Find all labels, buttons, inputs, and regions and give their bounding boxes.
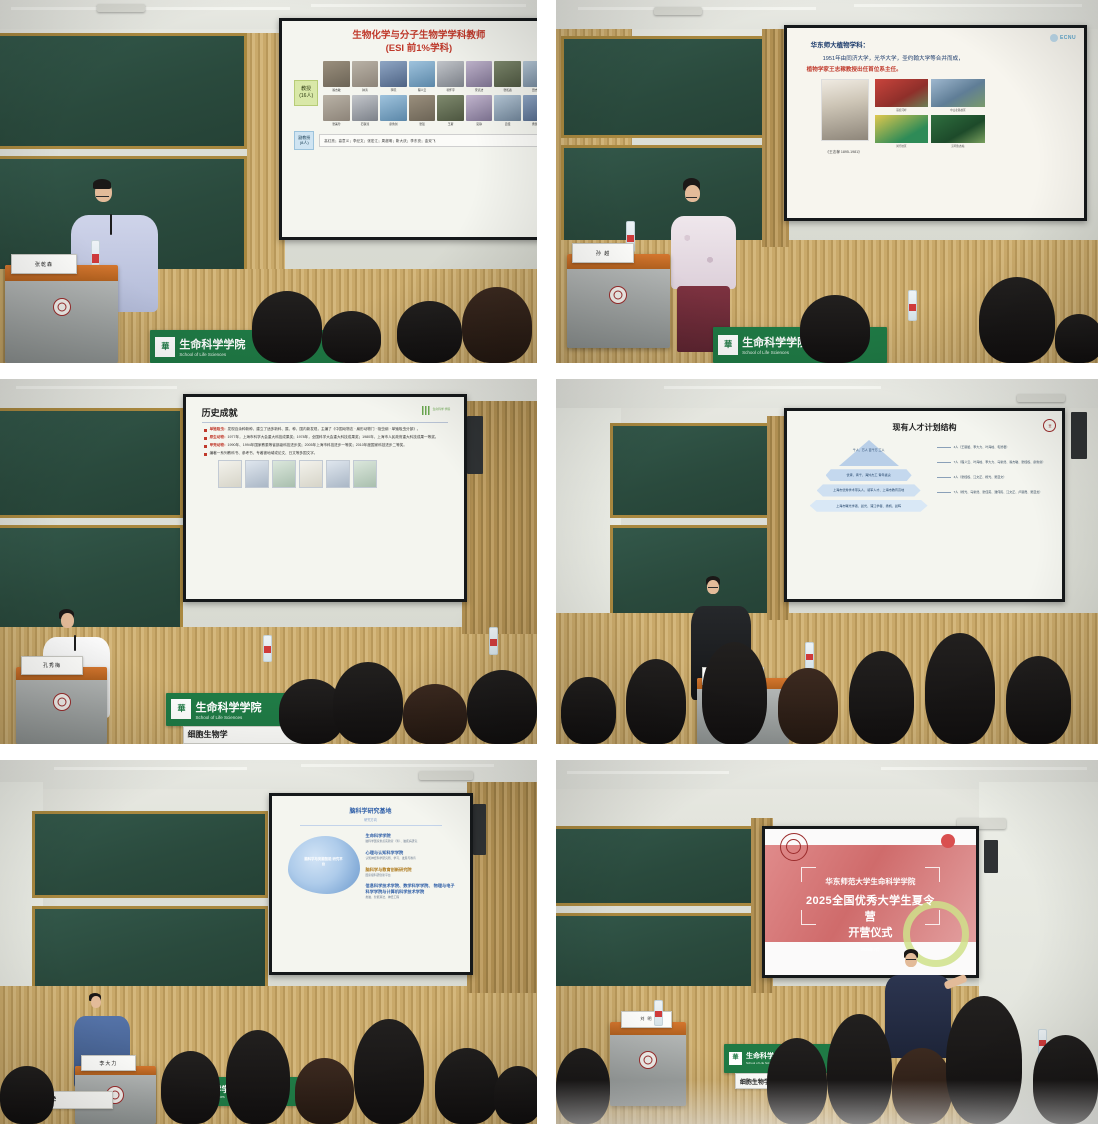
- ecnu-logo: ECNU: [1050, 34, 1076, 42]
- audience-member: [252, 291, 322, 363]
- book-cover: [245, 460, 269, 488]
- headshot: [437, 95, 464, 121]
- glasses-icon: [686, 197, 697, 201]
- audience-1: [0, 240, 537, 363]
- audience-head: [226, 1030, 290, 1124]
- audience-member: [354, 1019, 424, 1124]
- leader-line: [937, 447, 951, 448]
- list-item: 心理与认知科学学院 认知神经科学研究所、学习、发展与教育: [366, 850, 458, 861]
- audience-head: [467, 670, 537, 744]
- pyramid-note: 4人（张桂权、江文正、杨光、吴亚文）: [937, 475, 1046, 479]
- audience-head: [0, 1066, 54, 1124]
- item-detail: 脑科学国家重点实验室（筹）、脑疾病研究: [366, 840, 458, 844]
- headshot: [380, 95, 407, 121]
- school-logo-icon: [422, 406, 431, 415]
- projection-screen-5: 脑科学研究基地 研究方向 脑科学与类脑智能 研究平台 生命科学学院 脑科学国家重…: [269, 793, 473, 975]
- list-item: 编著一系列教科书、参考书、专著被地域或论文、日文等多国文字。: [204, 451, 449, 456]
- title-rule: [202, 422, 449, 423]
- audience-member: [467, 670, 537, 744]
- achievement-list: 单殖吸虫：发现百余种新种，建立了适多新科、属、种，国内新发现，主编了《中国动物志…: [204, 427, 449, 457]
- chalkboard-upper: [0, 33, 247, 149]
- headshot: [437, 61, 464, 87]
- tag-professor: 教授 (16人): [294, 80, 318, 106]
- school-logo: 生命科学 学院: [422, 406, 451, 415]
- slide-subtitle: 研究方向: [278, 817, 464, 822]
- ecnu-wordmark: ECNU: [1060, 35, 1076, 41]
- audience-head: [494, 1066, 537, 1124]
- projection-screen-3: 历史成就 生命科学 学院 单殖吸虫：发现百余种新种，建立了适多新科、属、种，国内…: [183, 394, 468, 602]
- book-cover: [218, 460, 242, 488]
- pyramid-note-text: 7人（程义云、叶海峰、李大力、马新然、翁杰敏、张桂权、廖鲁剑）: [954, 460, 1046, 464]
- audience-member: [849, 651, 914, 744]
- projection-screen-1: 生物化学与分子生物学学科教师 (ESI 前1%学科) 教授 (16人): [279, 18, 537, 239]
- audience-member: [403, 684, 467, 744]
- name-row-2: 张美玲 石铁流 廖鲁剑 张强 王斯 吴静 吕佳 曹慧文: [323, 121, 537, 126]
- audience-member: [561, 677, 615, 744]
- audience-head: [626, 659, 686, 744]
- audience-member: [322, 311, 381, 363]
- audience-2: [556, 240, 1098, 363]
- audience-head: [561, 677, 615, 744]
- headshot: [494, 61, 521, 87]
- ceiling-light-strip: [664, 386, 881, 389]
- slide-heading: 华东师大植物学科：: [811, 39, 1079, 49]
- headshot: [352, 61, 379, 87]
- photo-collage: 生物化学与分子生物学学科教师 (ESI 前1%学科) 教授 (16人): [0, 0, 1098, 1125]
- glasses-icon: [708, 587, 718, 591]
- historical-portrait: [821, 79, 869, 141]
- university-seal: [780, 833, 808, 861]
- projector: [97, 4, 145, 13]
- book-cover: [272, 460, 296, 488]
- slide-5: 脑科学研究基地 研究方向 脑科学与类脑智能 研究平台 生命科学学院 脑科学国家重…: [272, 796, 470, 972]
- photo-panel-2: ECNU 华东师大植物学科： 1951年由同济大学，光华大学，圣约翰大学等合并而…: [556, 0, 1098, 363]
- pyramid-note: 7人（杨光、马新然、张佳英、潘伟民、江文正、卢丽霞、吴亚龙）: [937, 490, 1046, 494]
- pyramid-note-text: 7人（杨光、马新然、张佳英、潘伟民、江文正、卢丽霞、吴亚龙）: [954, 490, 1043, 494]
- item-heading: 信息科学技术学院、数学科学学院、 物理与电子科学学院与计算机科学技术学院: [366, 883, 458, 895]
- projector: [654, 7, 703, 15]
- item-detail: 认知神经科学研究所、学习、发展与教育: [366, 857, 458, 861]
- thumb-caption: 闵行校区: [875, 144, 929, 148]
- faculty-body: 教授 (16人): [288, 61, 537, 126]
- book-cover: [299, 460, 323, 488]
- audience-member: [397, 301, 461, 363]
- audience-member: [161, 1051, 220, 1124]
- wall-speaker: [467, 416, 483, 474]
- audience-head: [322, 311, 381, 363]
- thumb-caption: 中山北路校区: [931, 108, 985, 112]
- audience-member: [462, 287, 532, 364]
- bullet-key: 原生动物：: [210, 435, 228, 439]
- audience-member: [494, 1066, 537, 1124]
- faculty-name: 田志宏: [523, 88, 537, 92]
- faculty-name: 张乾森: [494, 88, 521, 92]
- leader-line: [937, 462, 951, 463]
- audience-head: [252, 291, 322, 363]
- water-bottle: [908, 290, 917, 321]
- audience-member: [0, 1066, 54, 1124]
- ceiling-light-strip: [881, 767, 1087, 770]
- campus-thumb: [875, 115, 929, 143]
- slide-1: 生物化学与分子生物学学科教师 (ESI 前1%学科) 教授 (16人): [282, 21, 537, 236]
- audience-member: [800, 295, 870, 363]
- bullet-key: 单殖吸虫：: [210, 427, 228, 431]
- bullet-key: 甲壳动物：: [210, 443, 228, 447]
- photo-panel-3: 历史成就 生命科学 学院 单殖吸虫：发现百余种新种，建立了适多新科、属、种，国内…: [0, 379, 537, 744]
- item-detail: 类脑、智能算法、神经工程: [366, 896, 458, 900]
- bullet-text: 1990年、1994年国家教委等省部级科技进步奖；2005年上海市科技进步一等奖…: [228, 443, 407, 447]
- ceiling-light-strip: [11, 7, 290, 10]
- projection-screen-2: ECNU 华东师大植物学科： 1951年由同济大学，光华大学，圣约翰大学等合并而…: [784, 25, 1088, 221]
- title-frame: 华东师范大学生命科学学院 2025全国优秀大学生夏令营 开营仪式 2025年7月: [801, 867, 940, 926]
- headshot: [466, 95, 493, 121]
- chalkboard-upper: [0, 408, 183, 518]
- audience-head: [800, 295, 870, 363]
- audience-head: [435, 1048, 499, 1124]
- slide-title: 历史成就: [202, 406, 238, 419]
- audience-member: [626, 659, 686, 744]
- slide-header: 历史成就 生命科学 学院: [192, 401, 459, 419]
- accent-dot: [941, 834, 955, 848]
- campus-thumb: [875, 79, 929, 107]
- audience-member: [925, 633, 995, 744]
- wall-speaker: [984, 840, 998, 873]
- audience-head: [295, 1058, 354, 1124]
- campus-thumb: [931, 115, 985, 143]
- headshot-row-2: [323, 95, 537, 121]
- audience-head: [161, 1051, 220, 1124]
- faculty-name: 张强: [409, 122, 436, 126]
- leader-line: [937, 477, 951, 478]
- faculty-name: 宋高洁: [466, 88, 493, 92]
- photo-panel-4: 華 现有人才计划结构 千人、万人 百千万 工人 优青、青千、海外杰工 青年拔尖 …: [556, 379, 1098, 744]
- audience-head: [849, 651, 914, 744]
- ceiling-light-strip: [16, 386, 177, 389]
- ceiling-light-strip: [301, 764, 494, 767]
- bullet-icon: [204, 445, 207, 448]
- leader-line: [937, 492, 951, 493]
- faculty-name: 程义云: [409, 88, 436, 92]
- slide-title: 现有人才计划结构: [793, 422, 1057, 433]
- book-cover: [353, 460, 377, 488]
- bullet-text: 发现百余种新种，建立了适多新科、属、种，国内新发现，主编了《中国动物志 · 扁形…: [228, 427, 421, 431]
- slide-line-2: 植物学家王志稼教授出任首位系主任。: [807, 65, 1079, 73]
- faculty-name: 李晓: [380, 88, 407, 92]
- audience-head: [702, 642, 767, 744]
- title-rule: [300, 825, 442, 826]
- photo-panel-1: 生物化学与分子生物学学科教师 (ESI 前1%学科) 教授 (16人): [0, 0, 537, 363]
- pyramid-level-label: 优青、青千、海外杰工 青年拔尖: [826, 469, 912, 481]
- list-item: 单殖吸虫：发现百余种新种，建立了适多新科、属、种，国内新发现，主编了《中国动物志…: [204, 427, 449, 432]
- faculty-name: 钟涛: [352, 88, 379, 92]
- slide-3: 历史成就 生命科学 学院 单殖吸虫：发现百余种新种，建立了适多新科、属、种，国内…: [186, 397, 465, 599]
- thumb-caption: 崇明生态站: [931, 144, 985, 148]
- research-item-list: 生命科学学院 脑科学国家重点实验室（筹）、脑疾病研究 心理与认知科学学院 认知神…: [364, 830, 464, 907]
- pyramid-note: 7人（程义云、叶海峰、李大力、马新然、翁杰敏、张桂权、廖鲁剑）: [937, 460, 1046, 464]
- audience-head: [979, 277, 1055, 363]
- audience-member: [1006, 656, 1071, 744]
- faculty-name: 张美玲: [323, 122, 350, 126]
- faculty-name: 吴静: [466, 122, 493, 126]
- tag-associate: 副教授 (8人): [294, 131, 314, 150]
- audience-head: [462, 287, 532, 364]
- headshot: [409, 95, 436, 121]
- audience-member: [979, 277, 1055, 363]
- audience-member: [333, 662, 403, 744]
- bracket-top-left: [801, 867, 816, 882]
- bullet-text: 1977年，上海市科学大会重大科技成果奖；1978年，全国科学大会重大科技成果奖…: [228, 435, 439, 439]
- tag-professor-label: 教授: [299, 86, 313, 93]
- audience-head: [397, 301, 461, 363]
- faculty-name: 王斯: [437, 122, 464, 126]
- seal-ring-icon: [786, 839, 801, 854]
- glasses-icon: [96, 196, 109, 200]
- pyramid-notes: 4人（王丽媛、李大力、叶海峰、毛智君） 7人（程义云、叶海峰、李大力、马新然、翁…: [937, 445, 1046, 494]
- headshot: [494, 95, 521, 121]
- audience-head: [333, 662, 403, 744]
- headshot: [409, 61, 436, 87]
- slide-title-line2: (ESI 前1%学科): [288, 43, 537, 55]
- ceremony-org: 华东师范大学生命科学学院: [801, 876, 940, 887]
- audience-5: [0, 993, 537, 1124]
- faculty-name: 廖鲁剑: [380, 122, 407, 126]
- portrait-caption: 《王志稼 1895-1981》: [821, 150, 867, 155]
- talent-pyramid: 千人、万人 百千万 工人 优青、青千、海外杰工 青年拔尖 上海市优秀学术带头人、…: [809, 440, 929, 512]
- ceiling-light-strip: [567, 771, 730, 774]
- item-heading: 心理与认知科学学院: [366, 850, 458, 856]
- floor-highlight: [556, 1080, 1098, 1124]
- photo-panel-5: 脑科学研究基地 研究方向 脑科学与类脑智能 研究平台 生命科学学院 脑科学国家重…: [0, 760, 537, 1124]
- tag-professor-count: (16人): [299, 93, 313, 100]
- headshot: [323, 61, 350, 87]
- slide-title: 脑科学研究基地: [278, 806, 464, 815]
- audience-member: [295, 1058, 354, 1124]
- audience-head: [1006, 656, 1071, 744]
- audience-head: [354, 1019, 424, 1124]
- bracket-bottom-left: [801, 910, 816, 925]
- list-item: 甲壳动物：1990年、1994年国家教委等省部级科技进步奖；2005年上海市科技…: [204, 443, 449, 448]
- bracket-top-right: [925, 867, 940, 882]
- faculty-name: 石铁流: [352, 122, 379, 126]
- headshot: [352, 95, 379, 121]
- bullet-icon: [204, 429, 207, 432]
- faculty-name: 翁杰敏: [323, 88, 350, 92]
- ecnu-mark-icon: [1050, 34, 1058, 42]
- headshot: [323, 95, 350, 121]
- headshot: [466, 61, 493, 87]
- campus-thumbnails: 丽娃河畔 中山北路校区 闵行校区 崇明生态站: [875, 79, 985, 148]
- projector: [419, 771, 473, 780]
- chalkboard-lower: [32, 906, 268, 993]
- brain-label: 脑科学与类脑智能 研究平台: [304, 858, 344, 868]
- slide-media: 丽娃河畔 中山北路校区 闵行校区 崇明生态站: [821, 79, 1079, 148]
- headshot: [523, 95, 537, 121]
- pyramid-note-text: 4人（张桂权、江文正、杨光、吴亚文）: [954, 475, 1007, 479]
- microphone: [110, 214, 112, 235]
- faculty-name: 曹慧文: [523, 122, 537, 126]
- projector: [1017, 394, 1066, 403]
- list-item: 原生动物：1977年，上海市科学大会重大科技成果奖；1978年，全国科学大会重大…: [204, 435, 449, 440]
- audience-head: [925, 633, 995, 744]
- chalkboard-upper: [32, 811, 268, 898]
- pyramid-triangle: [839, 440, 899, 466]
- slide-2: ECNU 华东师大植物学科： 1951年由同济大学，光华大学，圣约翰大学等合并而…: [787, 28, 1085, 218]
- photo-panel-6: 华东师范大学生命科学学院 2025全国优秀大学生夏令营 开营仪式 2025年7月…: [556, 760, 1098, 1124]
- pyramid-level-label: 上海市曙光学者、晨光、浦江学者、扬帆、晨晖: [810, 500, 928, 512]
- headshot: [380, 61, 407, 87]
- tag-associate-count: (8人): [298, 140, 310, 145]
- audience-member: [778, 668, 838, 744]
- audience-member: [226, 1030, 290, 1124]
- thumb-caption: 丽娃河畔: [875, 108, 929, 112]
- list-item: 脑科学与教育创新研究院 国家级科研创新平台: [366, 867, 458, 878]
- audience-4: [556, 598, 1098, 744]
- wall-speaker: [473, 804, 486, 855]
- item-heading: 生命科学学院: [366, 833, 458, 839]
- headshot: [523, 61, 537, 87]
- bullet-icon: [204, 453, 207, 456]
- pyramid-note: 4人（王丽媛、李大力、叶海峰、毛智君）: [937, 445, 1046, 449]
- list-item: 生命科学学院 脑科学国家重点实验室（筹）、脑疾病研究: [366, 833, 458, 844]
- audience-member: [435, 1048, 499, 1124]
- ceremony-title: 2025全国优秀大学生夏令营: [801, 892, 940, 924]
- chalkboard-upper: [561, 36, 767, 138]
- item-detail: 国家级科研创新平台: [366, 874, 458, 878]
- ceiling-light-strip: [54, 767, 247, 770]
- book-thumbnails: [218, 460, 459, 488]
- chalkboard-upper: [610, 423, 773, 518]
- audience-3: [0, 620, 537, 744]
- bullet-icon: [204, 437, 207, 440]
- chalkboard-upper: [556, 826, 762, 906]
- associate-name-list: 高红亮；高意义；李纪文；张宏江；周超明；靳大庆；李东亮；金双飞: [319, 134, 537, 147]
- slide-title-line1: 生物化学与分子生物学学科教师: [288, 30, 537, 42]
- ceiling-light-strip: [311, 4, 526, 7]
- slide-body: 脑科学与类脑智能 研究平台 生命科学学院 脑科学国家重点实验室（筹）、脑疾病研究…: [278, 830, 464, 907]
- audience-head: [403, 684, 467, 744]
- list-item: 信息科学技术学院、数学科学学院、 物理与电子科学学院与计算机科学技术学院 类脑、…: [366, 883, 458, 900]
- presenter-hair: [93, 179, 111, 189]
- headshot-row-1: [323, 61, 537, 87]
- audience-head: [778, 668, 838, 744]
- brain-graphic: 脑科学与类脑智能 研究平台: [284, 830, 364, 904]
- projection-screen-4: 華 现有人才计划结构 千人、万人 百千万 工人 优青、青千、海外杰工 青年拔尖 …: [784, 408, 1066, 601]
- pyramid-level-label: 上海市优秀学术带头人、领军人才、上海市教育高地: [817, 484, 921, 496]
- pyramid-note-text: 4人（王丽媛、李大力、叶海峰、毛智君）: [954, 445, 1010, 449]
- faculty-name: 吕佳: [494, 122, 521, 126]
- ceremony-subtitle: 开营仪式: [801, 924, 940, 940]
- faculty-name: 蒋怀宇: [437, 88, 464, 92]
- ceiling-light-strip: [854, 4, 1082, 7]
- bracket-bottom-right: [925, 910, 940, 925]
- item-heading: 脑科学与教育创新研究院: [366, 867, 458, 873]
- bullet-text: 编著一系列教科书、参考书、专著被地域或论文、日文等多国文字。: [210, 451, 318, 455]
- audience-member: [702, 642, 767, 744]
- campus-thumb: [931, 79, 985, 107]
- audience-member: [1055, 314, 1098, 363]
- wall-speaker: [1071, 412, 1087, 459]
- school-logo-text: 生命科学 学院: [433, 408, 451, 411]
- slide-4: 華 现有人才计划结构 千人、万人 百千万 工人 优青、青千、海外杰工 青年拔尖 …: [787, 411, 1063, 598]
- glasses-icon: [906, 959, 916, 963]
- audience-head: [1055, 314, 1098, 363]
- pyramid-level-label: 千人、万人 百千万 工人: [853, 449, 885, 453]
- name-row-1: 翁杰敏 钟涛 李晓 程义云 蒋怀宇 宋高洁 张乾森 田志宏: [323, 87, 537, 92]
- book-cover: [326, 460, 350, 488]
- slide-line-1: 1951年由同济大学，光华大学，圣约翰大学等合并而成，: [823, 54, 1079, 62]
- pyramid-apex: 千人、万人 百千万 工人: [839, 440, 899, 466]
